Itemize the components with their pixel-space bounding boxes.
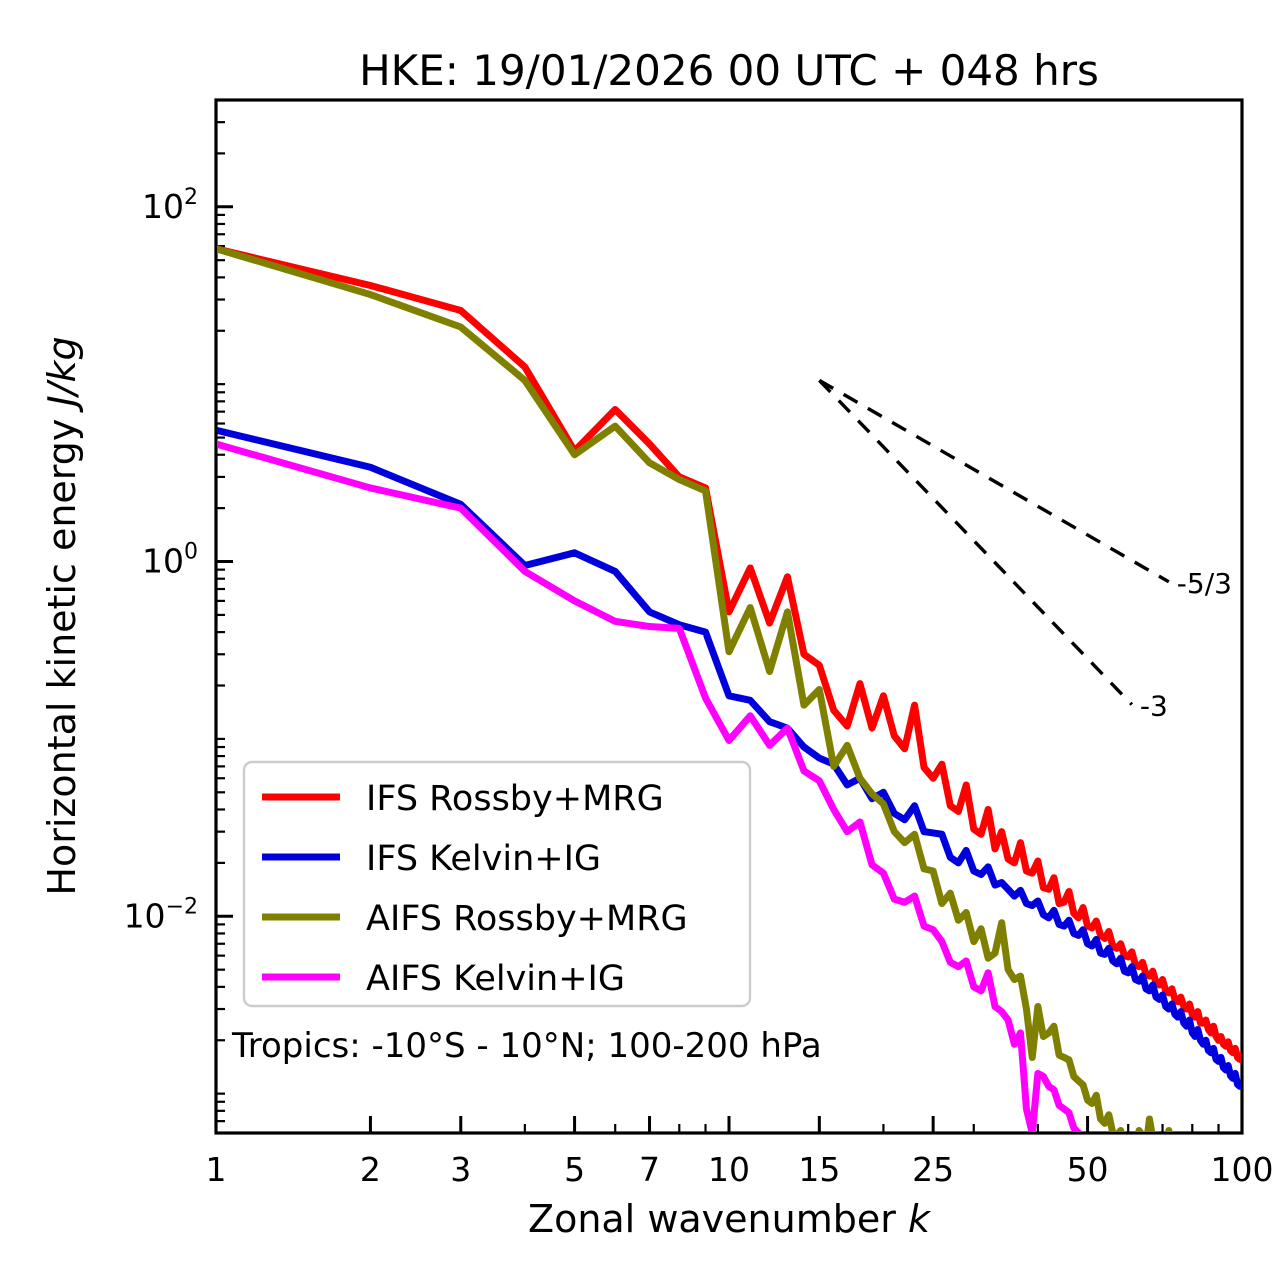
- legend-label-1[interactable]: IFS Kelvin+IG: [366, 839, 601, 879]
- x-axis-label-symbol: k: [908, 1197, 932, 1241]
- svg-text:Horizontal kinetic energy J/kg: Horizontal kinetic energy J/kg: [40, 336, 84, 895]
- x-tick-label: 1: [206, 1150, 227, 1189]
- page-title: HKE: 19/01/2026 00 UTC + 048 hrs: [359, 46, 1099, 95]
- legend-label-2[interactable]: AIFS Rossby+MRG: [366, 899, 688, 939]
- y-axis-label-units: J/kg: [40, 336, 84, 413]
- x-tick-label: 15: [798, 1150, 840, 1189]
- spectra-chart: HKE: 19/01/2026 00 UTC + 048 hrs 1235710…: [0, 0, 1280, 1288]
- legend[interactable]: IFS Rossby+MRGIFS Kelvin+IGAIFS Rossby+M…: [244, 762, 750, 1006]
- x-tick-label: 100: [1211, 1150, 1274, 1189]
- x-tick-label: 25: [912, 1150, 954, 1189]
- reference-slope-label: -5/3: [1177, 567, 1232, 600]
- x-tick-label: 50: [1067, 1150, 1109, 1189]
- reference-slope-label: -3: [1140, 690, 1168, 723]
- region-annotation: Tropics: -10°S - 10°N; 100-200 hPa: [231, 1026, 822, 1066]
- y-axis-label-main: Horizontal kinetic energy: [40, 419, 84, 896]
- x-tick-label: 5: [564, 1150, 585, 1189]
- x-tick-label: 2: [360, 1150, 381, 1189]
- y-axis-label: Horizontal kinetic energy J/kg: [40, 336, 84, 895]
- figure-container: HKE: 19/01/2026 00 UTC + 048 hrs 1235710…: [0, 0, 1280, 1288]
- x-tick-label: 7: [639, 1150, 660, 1189]
- x-tick-label: 10: [708, 1150, 750, 1189]
- x-axis-label: Zonal wavenumber k: [528, 1197, 932, 1241]
- x-tick-label: 3: [450, 1150, 471, 1189]
- legend-label-3[interactable]: AIFS Kelvin+IG: [366, 959, 625, 999]
- x-axis-label-main: Zonal wavenumber: [528, 1197, 896, 1241]
- legend-label-0[interactable]: IFS Rossby+MRG: [366, 779, 664, 819]
